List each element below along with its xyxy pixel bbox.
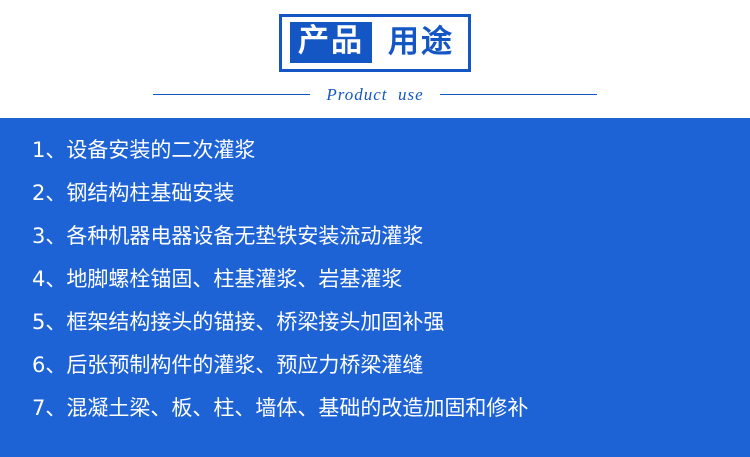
list-item: 1、设备安装的二次灌浆 [0,140,750,161]
product-use-banner: 产品 用途 Product use 1、设备安装的二次灌浆 2、钢结构柱基础安装… [0,0,750,457]
usage-list: 1、设备安装的二次灌浆 2、钢结构柱基础安装 3、各种机器电器设备无垫铁安装流动… [0,140,750,419]
subtitle: Product use [310,86,439,103]
list-item: 6、后张预制构件的灌浆、预应力桥梁灌缝 [0,355,750,376]
rule-line-left [153,94,310,95]
list-item: 4、地脚螺栓锚固、柱基灌浆、岩基灌浆 [0,269,750,290]
title-part1: 产品 [290,22,372,63]
rule-line-right [440,94,597,95]
list-item: 3、各种机器电器设备无垫铁安装流动灌浆 [0,226,750,247]
title-box: 产品 用途 [279,14,471,72]
list-item: 5、框架结构接头的锚接、桥梁接头加固补强 [0,312,750,333]
title-wrap: 产品 用途 [0,14,750,72]
title-part2: 用途 [382,27,460,58]
header: 产品 用途 Product use [0,0,750,118]
list-item: 7、混凝土梁、板、柱、墙体、基础的改造加固和修补 [0,398,750,419]
list-item: 2、钢结构柱基础安装 [0,183,750,204]
subtitle-rule: Product use [0,86,750,103]
usage-panel: 1、设备安装的二次灌浆 2、钢结构柱基础安装 3、各种机器电器设备无垫铁安装流动… [0,118,750,457]
